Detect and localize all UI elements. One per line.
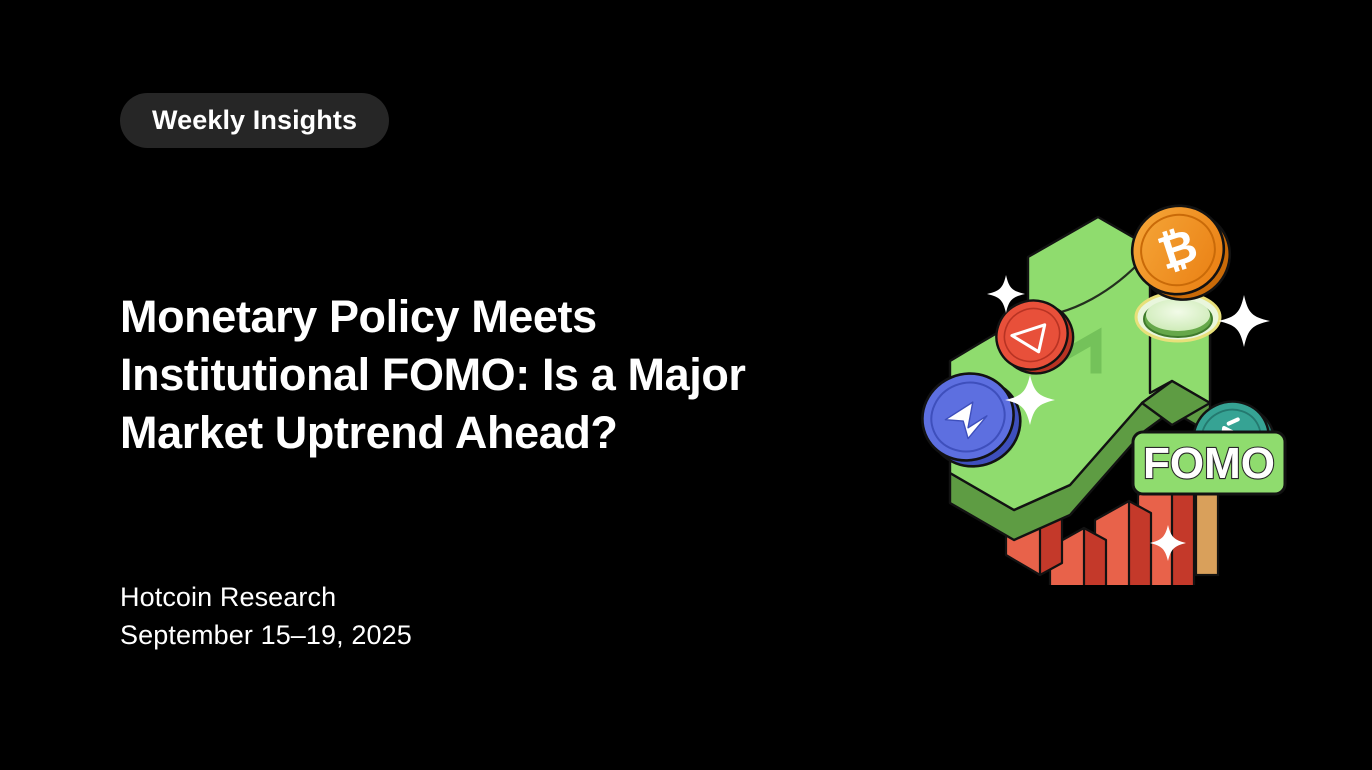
rising-arrow-illustration: ₿ <box>910 195 1310 585</box>
page-title: Monetary Policy Meets Institutional FOMO… <box>120 288 880 462</box>
sparkle-3 <box>1218 295 1270 347</box>
footer-credits: Hotcoin Research September 15–19, 2025 <box>120 578 412 654</box>
banner-root: Weekly Insights Monetary Policy Meets In… <box>0 0 1372 770</box>
weekly-insights-badge: Weekly Insights <box>120 93 389 148</box>
footer-author: Hotcoin Research <box>120 578 412 616</box>
title-line-2: Institutional FOMO: Is a Major <box>120 346 880 404</box>
badge-label: Weekly Insights <box>152 107 357 134</box>
title-line-1: Monetary Policy Meets <box>120 288 880 346</box>
footer-date-range: September 15–19, 2025 <box>120 616 412 654</box>
title-line-3: Market Uptrend Ahead? <box>120 404 880 462</box>
fomo-sign-label: FOMO <box>1143 439 1275 488</box>
